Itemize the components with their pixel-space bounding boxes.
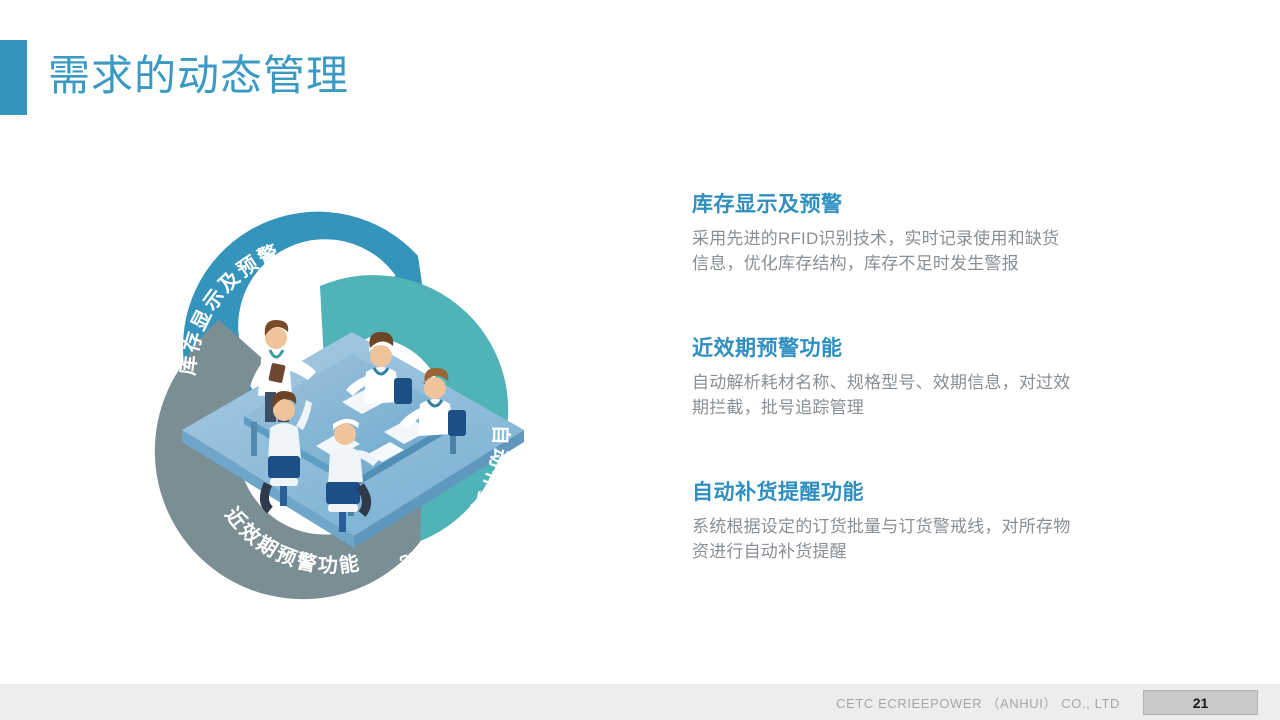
slide-canvas: 需求的动态管理 <box>0 0 1280 720</box>
page-title: 需求的动态管理 <box>48 44 349 108</box>
feature-block-auto-replenish: 自动补货提醒功能 系统根据设定的订货批量与订货警戒线，对所存物资进行自动补货提醒 <box>692 478 1092 564</box>
feature-list: 库存显示及预警 采用先进的RFID识别技术，实时记录使用和缺货信息，优化库存结构… <box>692 190 1092 564</box>
footer-company-name: CETC ECRIEEPOWER （ANHUI） CO., LTD <box>836 693 1120 712</box>
footer: CETC ECRIEEPOWER （ANHUI） CO., LTD 21 <box>0 684 1280 720</box>
page-number: 21 <box>1193 696 1209 710</box>
feature-heading: 库存显示及预警 <box>692 190 1092 220</box>
feature-body: 采用先进的RFID识别技术，实时记录使用和缺货信息，优化库存结构，库存不足时发生… <box>692 226 1072 276</box>
feature-body: 系统根据设定的订货批量与订货警戒线，对所存物资进行自动补货提醒 <box>692 514 1072 564</box>
title-accent-bar <box>0 40 27 115</box>
page-number-box: 21 <box>1143 690 1258 715</box>
feature-heading: 自动补货提醒功能 <box>692 478 1092 508</box>
feature-heading: 近效期预警功能 <box>692 334 1092 364</box>
feature-block-inventory-alert: 库存显示及预警 采用先进的RFID识别技术，实时记录使用和缺货信息，优化库存结构… <box>692 190 1092 276</box>
feature-body: 自动解析耗材名称、规格型号、效期信息，对过效期拦截，批号追踪管理 <box>692 370 1072 420</box>
feature-block-expiry-alert: 近效期预警功能 自动解析耗材名称、规格型号、效期信息，对过效期拦截，批号追踪管理 <box>692 334 1092 420</box>
cycle-diagram: 库存显示及预警 自动补货提醒功能 近效期预警功能 <box>120 160 580 600</box>
